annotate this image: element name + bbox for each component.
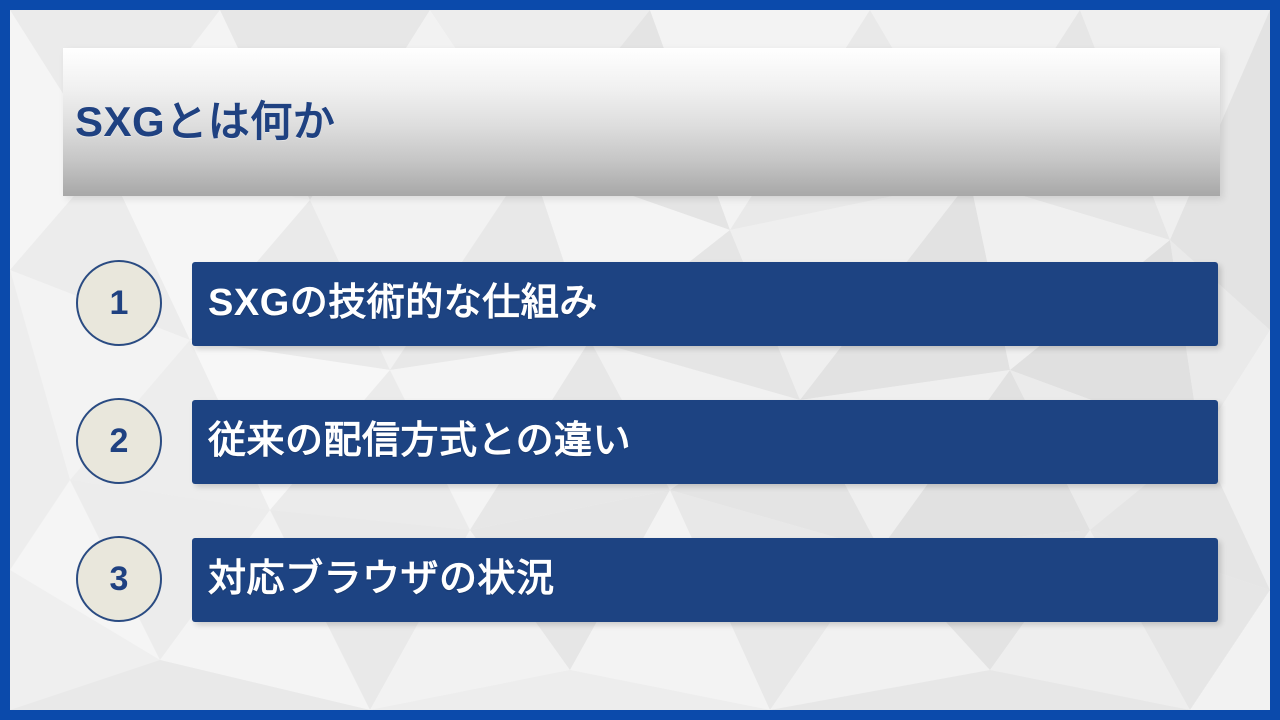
agenda-bar-1[interactable]: SXGの技術的な仕組み	[192, 262, 1218, 346]
agenda-label-1: SXGの技術的な仕組み	[208, 282, 598, 326]
agenda-number-2: 2	[110, 424, 129, 458]
slide-title-band: SXGとは何か	[63, 48, 1220, 196]
agenda-label-2: 従来の配信方式との違い	[208, 420, 631, 464]
slide-canvas: SXGとは何か 1 SXGの技術的な仕組み 2 従来の配信方式との違い	[10, 10, 1270, 710]
agenda-item-3[interactable]: 3 対応ブラウザの状況	[10, 538, 1270, 622]
agenda-item-2[interactable]: 2 従来の配信方式との違い	[10, 400, 1270, 484]
agenda-list: 1 SXGの技術的な仕組み 2 従来の配信方式との違い 3	[10, 262, 1270, 676]
agenda-number-circle-1: 1	[76, 260, 162, 346]
agenda-label-3: 対応ブラウザの状況	[208, 558, 555, 602]
agenda-item-1[interactable]: 1 SXGの技術的な仕組み	[10, 262, 1270, 346]
agenda-number-3: 3	[110, 562, 129, 596]
page-title: SXGとは何か	[75, 99, 335, 145]
agenda-number-circle-3: 3	[76, 536, 162, 622]
agenda-bar-3[interactable]: 対応ブラウザの状況	[192, 538, 1218, 622]
agenda-bar-2[interactable]: 従来の配信方式との違い	[192, 400, 1218, 484]
presentation-slide: SXGとは何か 1 SXGの技術的な仕組み 2 従来の配信方式との違い	[0, 0, 1280, 720]
agenda-number-1: 1	[110, 286, 129, 320]
agenda-number-circle-2: 2	[76, 398, 162, 484]
